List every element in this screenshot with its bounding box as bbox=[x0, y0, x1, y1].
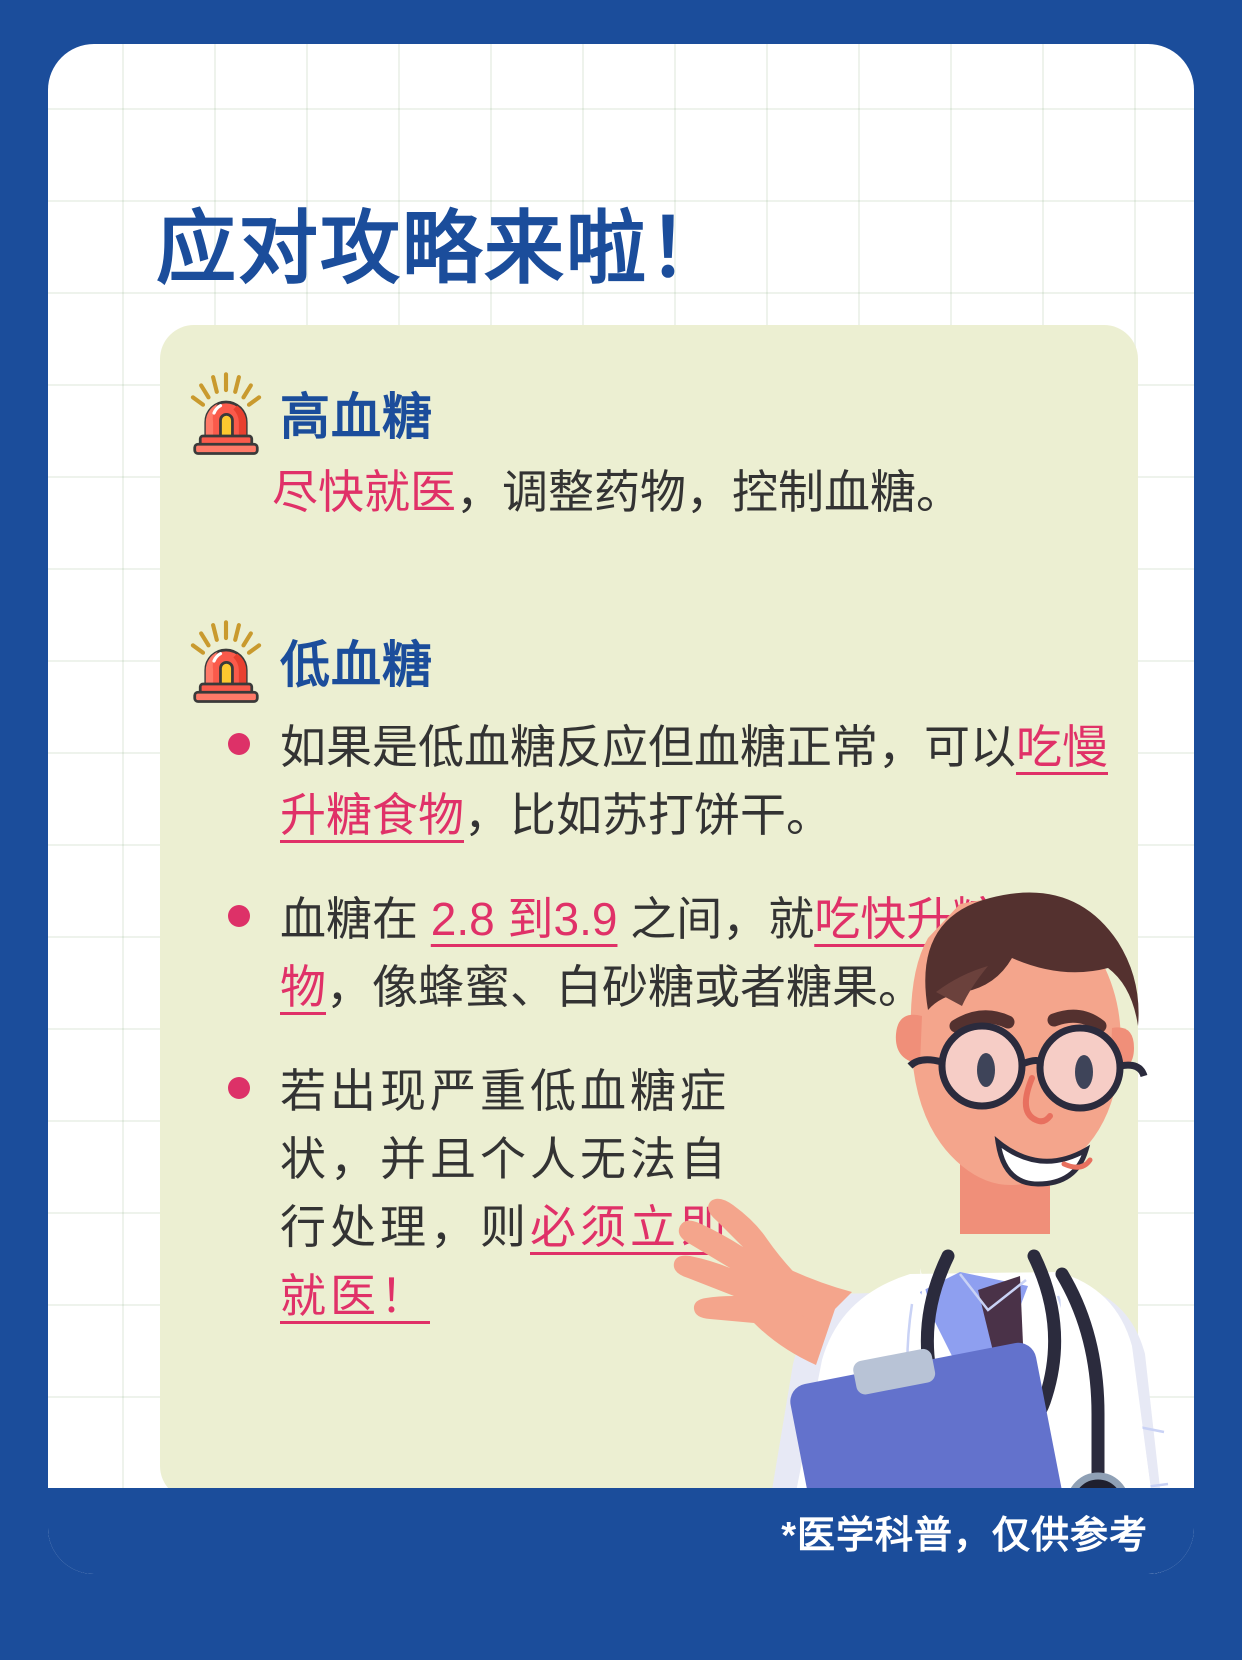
section-heading-label: 低血糖 bbox=[280, 625, 433, 697]
content-card: 应对攻略来啦！ bbox=[48, 44, 1194, 1574]
section-high-blood-sugar-header: 高血糖 bbox=[180, 367, 433, 459]
bullet-text-part2: 之间，就 bbox=[617, 893, 814, 945]
list-item: 血糖在 2.8 到3.9 之间，就吃快升糖食物，像蜂蜜、白砂糖或者糖果。 bbox=[222, 885, 1122, 1021]
poster-root: 应对攻略来啦！ bbox=[0, 0, 1242, 1660]
bullet-dot-icon bbox=[228, 733, 250, 755]
bullet-text-part1: 血糖在 bbox=[280, 893, 431, 945]
page-title: 应对攻略来啦！ bbox=[156, 184, 730, 300]
bullet-dot-icon bbox=[228, 1077, 250, 1099]
siren-icon bbox=[180, 615, 272, 707]
paragraph-rest: ，调整药物，控制血糖。 bbox=[456, 466, 962, 518]
footer-bar: *医学科普，仅供参考 bbox=[48, 1488, 1194, 1574]
bullet-text-part1: 如果是低血糖反应但血糖正常，可以 bbox=[280, 721, 1016, 773]
paragraph-highlight: 尽快就医 bbox=[272, 466, 456, 518]
section-low-blood-sugar-header: 低血糖 bbox=[180, 615, 433, 707]
low-blood-sugar-bullet-list: 如果是低血糖反应但血糖正常，可以吃慢升糖食物，比如苏打饼干。 血糖在 2.8 到… bbox=[222, 713, 1122, 1366]
bullet-dot-icon bbox=[228, 905, 250, 927]
siren-icon bbox=[180, 367, 272, 459]
advice-panel: 高血糖 尽快就医，调整药物，控制血糖。 bbox=[160, 325, 1138, 1500]
bullet-text-part3: ，像蜂蜜、白砂糖或者糖果。 bbox=[326, 961, 924, 1013]
bullet-text-part2: ，比如苏打饼干。 bbox=[464, 789, 832, 841]
bullet-highlight-range: 2.8 到3.9 bbox=[431, 893, 618, 945]
list-item: 如果是低血糖反应但血糖正常，可以吃慢升糖食物，比如苏打饼干。 bbox=[222, 713, 1122, 849]
section-heading-label: 高血糖 bbox=[280, 377, 433, 449]
high-blood-sugar-paragraph: 尽快就医，调整药物，控制血糖。 bbox=[272, 460, 1112, 525]
disclaimer-text: *医学科普，仅供参考 bbox=[781, 1504, 1148, 1559]
list-item: 若出现严重低血糖症状，并且个人无法自行处理，则必须立即就医！ bbox=[222, 1057, 752, 1329]
